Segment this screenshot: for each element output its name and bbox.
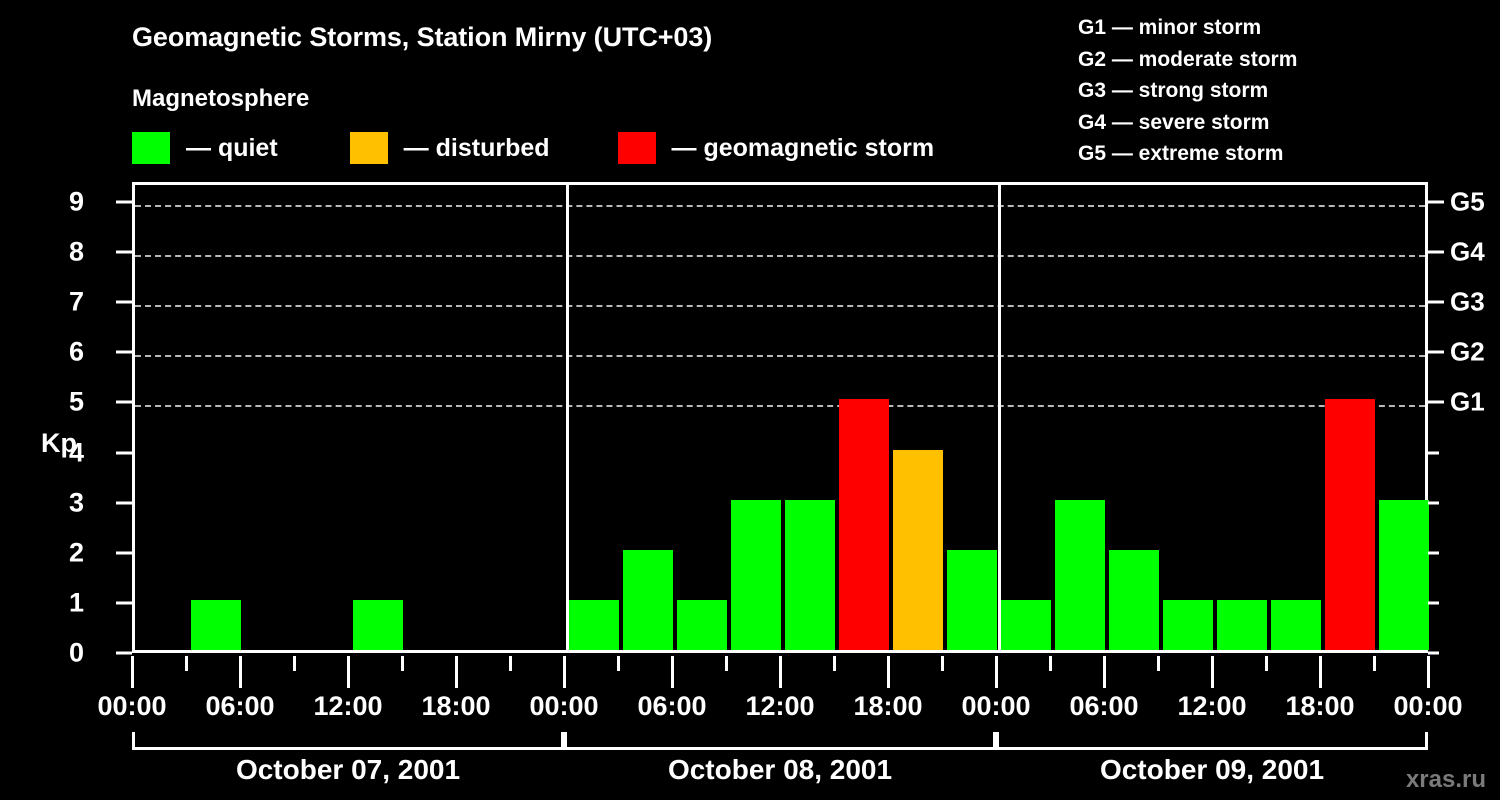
bar <box>191 600 241 650</box>
legend-label-disturbed: — disturbed <box>404 134 550 163</box>
g-legend-line-2: G2 — moderate storm <box>1078 44 1297 76</box>
x-tick-1 <box>185 656 188 671</box>
x-tick-24 <box>1427 656 1430 688</box>
g-legend-line-1: G1 — minor storm <box>1078 12 1297 44</box>
x-tick-4 <box>347 656 350 688</box>
x-tick-label-3: 18:00 <box>421 691 490 722</box>
g-tick-minor-kp-4 <box>1428 451 1439 454</box>
plot-inner <box>135 185 1425 650</box>
x-tick-6 <box>455 656 458 688</box>
y-tick-7 <box>116 301 132 304</box>
g-tick-minor-kp-1 <box>1428 601 1439 604</box>
x-tick-label-9: 06:00 <box>1069 691 1138 722</box>
x-tick-label-8: 00:00 <box>961 691 1030 722</box>
y-tick-5 <box>116 401 132 404</box>
bar <box>785 500 835 650</box>
day-label-2: October 08, 2001 <box>564 754 996 786</box>
g-legend-line-5: G5 — extreme storm <box>1078 138 1297 170</box>
bar <box>1001 600 1051 650</box>
bar <box>623 550 673 650</box>
y-tick-label-1: 1 <box>69 587 84 618</box>
x-tick-21 <box>1265 656 1268 671</box>
gridline-kp-5 <box>135 405 1425 407</box>
bar <box>1379 500 1429 650</box>
g-tick-G2 <box>1428 351 1444 354</box>
y-tick-6 <box>116 351 132 354</box>
legend-swatch-geomagnetic-storm <box>618 132 656 164</box>
x-tick-15 <box>941 656 944 671</box>
g-tick-label-G1: G1 <box>1450 387 1485 418</box>
legend: — quiet— disturbed— geomagnetic storm <box>132 132 934 164</box>
y-tick-label-3: 3 <box>69 487 84 518</box>
bar <box>677 600 727 650</box>
x-tick-20 <box>1211 656 1214 688</box>
x-tick-19 <box>1157 656 1160 671</box>
x-tick-12 <box>779 656 782 688</box>
y-tick-label-6: 6 <box>69 337 84 368</box>
day-separator <box>998 185 1001 650</box>
y-tick-9 <box>116 201 132 204</box>
x-tick-10 <box>671 656 674 688</box>
x-tick-label-7: 18:00 <box>853 691 922 722</box>
legend-swatch-quiet <box>132 132 170 164</box>
x-tick-label-10: 12:00 <box>1177 691 1246 722</box>
x-tick-22 <box>1319 656 1322 688</box>
g-tick-minor-kp-3 <box>1428 501 1439 504</box>
legend-item-quiet: — quiet <box>132 132 278 164</box>
x-tick-16 <box>995 656 998 688</box>
page-title: Geomagnetic Storms, Station Mirny (UTC+0… <box>132 22 712 53</box>
g-tick-label-G2: G2 <box>1450 337 1485 368</box>
x-tick-11 <box>725 656 728 671</box>
day-label-3: October 09, 2001 <box>996 754 1428 786</box>
x-tick-label-4: 00:00 <box>529 691 598 722</box>
g-tick-G3 <box>1428 301 1444 304</box>
x-tick-2 <box>239 656 242 688</box>
y-tick-label-2: 2 <box>69 537 84 568</box>
g-legend-line-4: G4 — severe storm <box>1078 107 1297 139</box>
bar <box>569 600 619 650</box>
bar <box>1109 550 1159 650</box>
g-tick-G5 <box>1428 201 1444 204</box>
legend-label-geomagnetic-storm: — geomagnetic storm <box>672 134 935 163</box>
x-tick-label-1: 06:00 <box>205 691 274 722</box>
gridline-kp-9 <box>135 205 1425 207</box>
plot-area <box>132 182 1428 653</box>
y-axis-title: Kp <box>41 428 77 459</box>
x-tick-23 <box>1373 656 1376 671</box>
y-tick-label-8: 8 <box>69 237 84 268</box>
x-tick-label-12: 00:00 <box>1393 691 1462 722</box>
y-tick-0 <box>116 652 132 655</box>
bar <box>1271 600 1321 650</box>
gridline-kp-7 <box>135 305 1425 307</box>
g-legend-line-3: G3 — strong storm <box>1078 75 1297 107</box>
bar <box>947 550 997 650</box>
y-tick-3 <box>116 501 132 504</box>
legend-item-geomagnetic-storm: — geomagnetic storm <box>618 132 935 164</box>
gridline-kp-8 <box>135 255 1425 257</box>
g-tick-label-G4: G4 <box>1450 237 1485 268</box>
gridline-kp-6 <box>135 355 1425 357</box>
g-scale-legend: G1 — minor stormG2 — moderate stormG3 — … <box>1078 12 1297 170</box>
x-tick-label-0: 00:00 <box>97 691 166 722</box>
y-tick-2 <box>116 551 132 554</box>
legend-heading: Magnetosphere <box>132 85 309 113</box>
legend-swatch-disturbed <box>350 132 388 164</box>
g-tick-minor-kp-0 <box>1428 652 1439 655</box>
g-tick-G1 <box>1428 401 1444 404</box>
y-tick-label-5: 5 <box>69 387 84 418</box>
x-tick-label-6: 12:00 <box>745 691 814 722</box>
bar <box>1055 500 1105 650</box>
y-tick-8 <box>116 251 132 254</box>
g-tick-label-G3: G3 <box>1450 287 1485 318</box>
x-tick-0 <box>131 656 134 688</box>
x-tick-label-11: 18:00 <box>1285 691 1354 722</box>
x-tick-8 <box>563 656 566 688</box>
y-tick-4 <box>116 451 132 454</box>
legend-item-disturbed: — disturbed <box>350 132 550 164</box>
x-tick-label-5: 06:00 <box>637 691 706 722</box>
bar <box>893 450 943 650</box>
x-tick-9 <box>617 656 620 671</box>
y-tick-label-9: 9 <box>69 187 84 218</box>
bar <box>1325 399 1375 650</box>
day-label-1: October 07, 2001 <box>132 754 564 786</box>
g-tick-label-G5: G5 <box>1450 187 1485 218</box>
bar <box>1163 600 1213 650</box>
day-separator <box>566 185 569 650</box>
x-tick-17 <box>1049 656 1052 671</box>
bar <box>839 399 889 650</box>
day-bracket-3 <box>996 732 1428 750</box>
bar <box>731 500 781 650</box>
x-tick-7 <box>509 656 512 671</box>
day-bracket-1 <box>132 732 564 750</box>
y-tick-1 <box>116 601 132 604</box>
x-tick-5 <box>401 656 404 671</box>
y-tick-label-7: 7 <box>69 287 84 318</box>
legend-label-quiet: — quiet <box>186 134 278 163</box>
x-tick-label-2: 12:00 <box>313 691 382 722</box>
watermark: xras.ru <box>1406 766 1486 794</box>
x-tick-13 <box>833 656 836 671</box>
bar <box>353 600 403 650</box>
y-tick-label-0: 0 <box>69 638 84 669</box>
x-tick-3 <box>293 656 296 671</box>
x-tick-18 <box>1103 656 1106 688</box>
bar <box>1217 600 1267 650</box>
x-tick-14 <box>887 656 890 688</box>
g-tick-G4 <box>1428 251 1444 254</box>
g-tick-minor-kp-2 <box>1428 551 1439 554</box>
day-bracket-2 <box>564 732 996 750</box>
